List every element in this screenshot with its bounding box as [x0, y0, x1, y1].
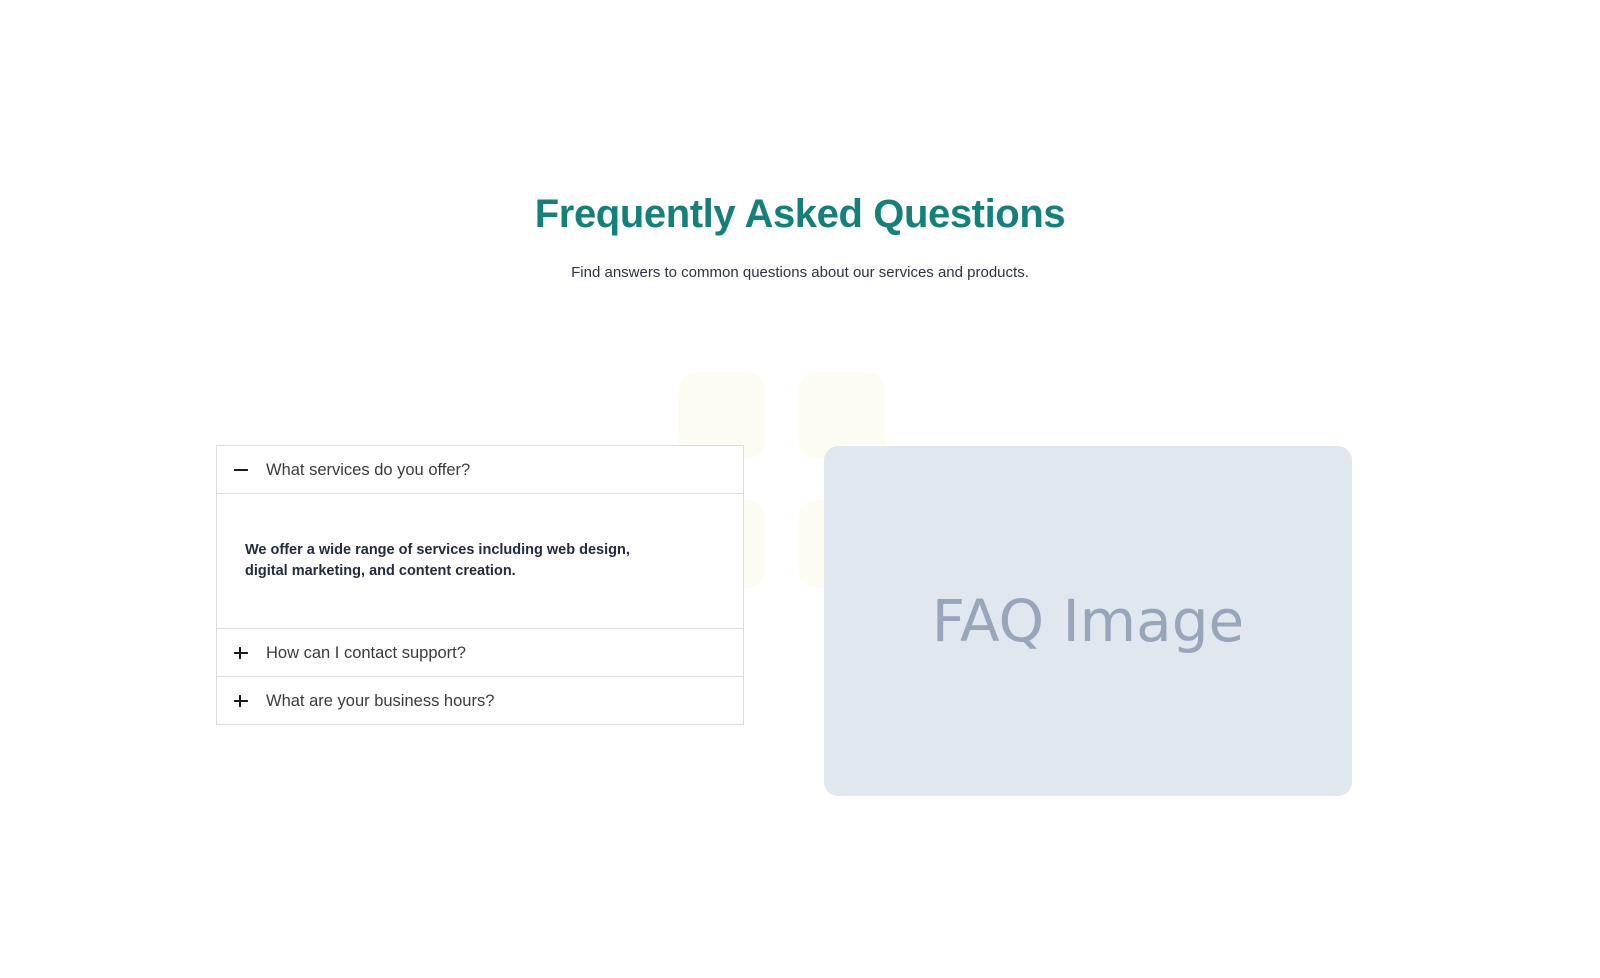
minus-icon	[233, 462, 249, 478]
faq-header: Frequently Asked Questions Find answers …	[0, 190, 1600, 284]
faq-accordion: What services do you offer? We offer a w…	[216, 445, 744, 725]
accordion-item: How can I contact support?	[216, 629, 744, 677]
faq-page: Frequently Asked Questions Find answers …	[0, 0, 1600, 978]
accordion-header-2[interactable]: How can I contact support?	[217, 629, 743, 676]
plus-icon	[233, 645, 249, 661]
accordion-question-label: What services do you offer?	[266, 459, 470, 481]
page-subtitle: Find answers to common questions about o…	[0, 262, 1600, 284]
faq-image-label: FAQ Image	[932, 589, 1244, 653]
accordion-item: What are your business hours?	[216, 677, 744, 725]
page-title: Frequently Asked Questions	[0, 190, 1600, 238]
plus-icon	[233, 693, 249, 709]
accordion-item: What services do you offer? We offer a w…	[216, 446, 744, 629]
accordion-question-label: How can I contact support?	[266, 642, 466, 664]
accordion-question-label: What are your business hours?	[266, 690, 494, 712]
accordion-header-1[interactable]: What services do you offer?	[217, 446, 743, 493]
accordion-panel-1: We offer a wide range of services includ…	[217, 493, 743, 628]
faq-image-placeholder: FAQ Image	[824, 446, 1352, 796]
accordion-header-3[interactable]: What are your business hours?	[217, 677, 743, 724]
accordion-answer-text: We offer a wide range of services includ…	[245, 540, 665, 582]
